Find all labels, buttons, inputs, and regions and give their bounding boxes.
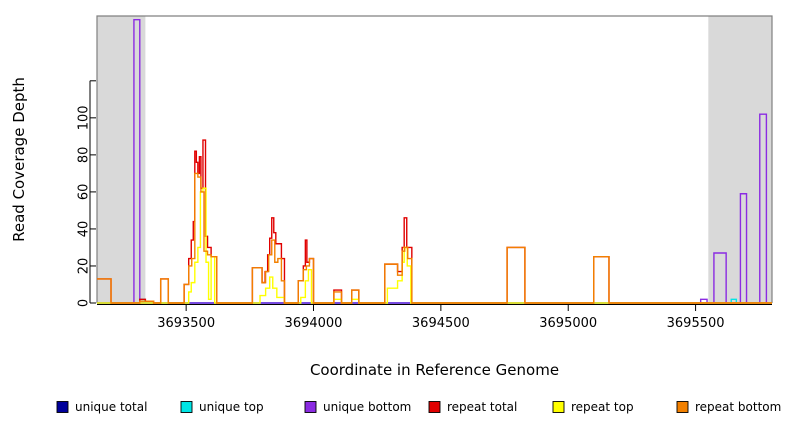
legend-swatch-5 xyxy=(677,402,688,413)
legend-swatch-0 xyxy=(57,402,68,413)
legend-swatch-2 xyxy=(305,402,316,413)
coverage-depth-chart: 3693500369400036945003695000369550002040… xyxy=(0,0,792,432)
x-tick-label-4: 3695500 xyxy=(667,316,725,331)
legend-swatch-3 xyxy=(429,402,440,413)
legend-label-3: repeat total xyxy=(447,400,517,414)
legend-swatch-4 xyxy=(553,402,564,413)
x-tick-label-0: 3693500 xyxy=(157,316,215,331)
y-tick-label-5: 100 xyxy=(77,105,92,130)
chart-canvas: 3693500369400036945003695000369550002040… xyxy=(0,0,792,432)
x-tick-label-2: 3694500 xyxy=(412,316,470,331)
x-tick-label-1: 3694000 xyxy=(285,316,343,331)
y-tick-label-0: 0 xyxy=(77,299,92,307)
shaded-region-0 xyxy=(97,16,145,303)
y-tick-label-3: 60 xyxy=(77,184,92,201)
legend-label-4: repeat top xyxy=(571,400,634,414)
y-tick-label-2: 40 xyxy=(77,221,92,238)
legend-label-0: unique total xyxy=(75,400,147,414)
x-tick-label-3: 3695000 xyxy=(539,316,597,331)
y-tick-label-4: 80 xyxy=(77,147,92,164)
legend-swatch-1 xyxy=(181,402,192,413)
legend-label-2: unique bottom xyxy=(323,400,411,414)
legend-label-5: repeat bottom xyxy=(695,400,781,414)
series-repeat-top xyxy=(97,188,772,303)
legend-label-1: unique top xyxy=(199,400,264,414)
series-repeat-total xyxy=(97,140,772,303)
y-tick-label-1: 20 xyxy=(77,258,92,275)
y-axis-title: Read Coverage Depth xyxy=(10,77,28,242)
series-repeat-bottom xyxy=(97,173,772,303)
x-axis-title: Coordinate in Reference Genome xyxy=(310,361,559,379)
